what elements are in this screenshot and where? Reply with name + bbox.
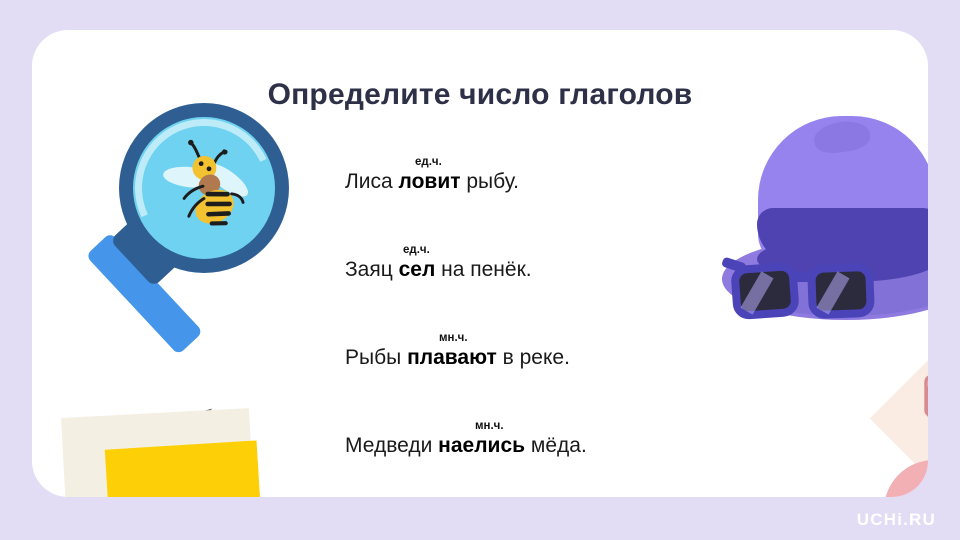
grammatical-number-label: мн.ч.	[475, 420, 504, 432]
sentence-verb: сел	[399, 258, 436, 281]
exercise-sentence-row: мн.ч.Медведи наелись мёда.	[345, 404, 765, 492]
grammatical-number-label: ед.ч.	[415, 156, 442, 168]
sentence-text: Рыбы плавают в реке.	[345, 346, 570, 370]
exercise-sentence-row: ед.ч.Заяц сел на пенёк.	[345, 228, 765, 316]
sentence-suffix: в реке.	[497, 346, 570, 369]
exercise-sentence-list: ед.ч.Лиса ловит рыбу.ед.ч.Заяц сел на пе…	[345, 140, 765, 492]
sentence-verb: ловит	[399, 170, 461, 193]
sentence-prefix: Заяц	[345, 258, 399, 281]
sentence-text: Лиса ловит рыбу.	[345, 170, 519, 194]
slide-root: Определите число глаголов ед.ч.Лиса лови…	[0, 0, 960, 540]
sentence-verb: наелись	[438, 434, 525, 457]
sentence-verb: плавают	[407, 346, 497, 369]
sunglasses-icon	[732, 258, 892, 324]
sentence-text: Заяц сел на пенёк.	[345, 258, 532, 282]
paperclip-icon	[912, 370, 928, 426]
sentence-suffix: рыбу.	[461, 170, 519, 193]
magnifying-glass-with-bee	[79, 100, 294, 370]
sticky-note	[105, 440, 263, 497]
content-card: Определите число глаголов ед.ч.Лиса лови…	[32, 30, 928, 497]
sentence-suffix: мёда.	[525, 434, 587, 457]
sentence-prefix: Рыбы	[345, 346, 407, 369]
grammatical-number-label: мн.ч.	[439, 332, 468, 344]
pink-shape	[884, 460, 928, 497]
grammatical-number-label: ед.ч.	[403, 244, 430, 256]
exercise-sentence-row: мн.ч.Рыбы плавают в реке.	[345, 316, 765, 404]
sentence-text: Медведи наелись мёда.	[345, 434, 587, 458]
sentence-suffix: на пенёк.	[435, 258, 531, 281]
sentence-prefix: Лиса	[345, 170, 399, 193]
sentence-prefix: Медведи	[345, 434, 438, 457]
exercise-sentence-row: ед.ч.Лиса ловит рыбу.	[345, 140, 765, 228]
watermark-logo: UCHi.RU	[857, 510, 936, 530]
